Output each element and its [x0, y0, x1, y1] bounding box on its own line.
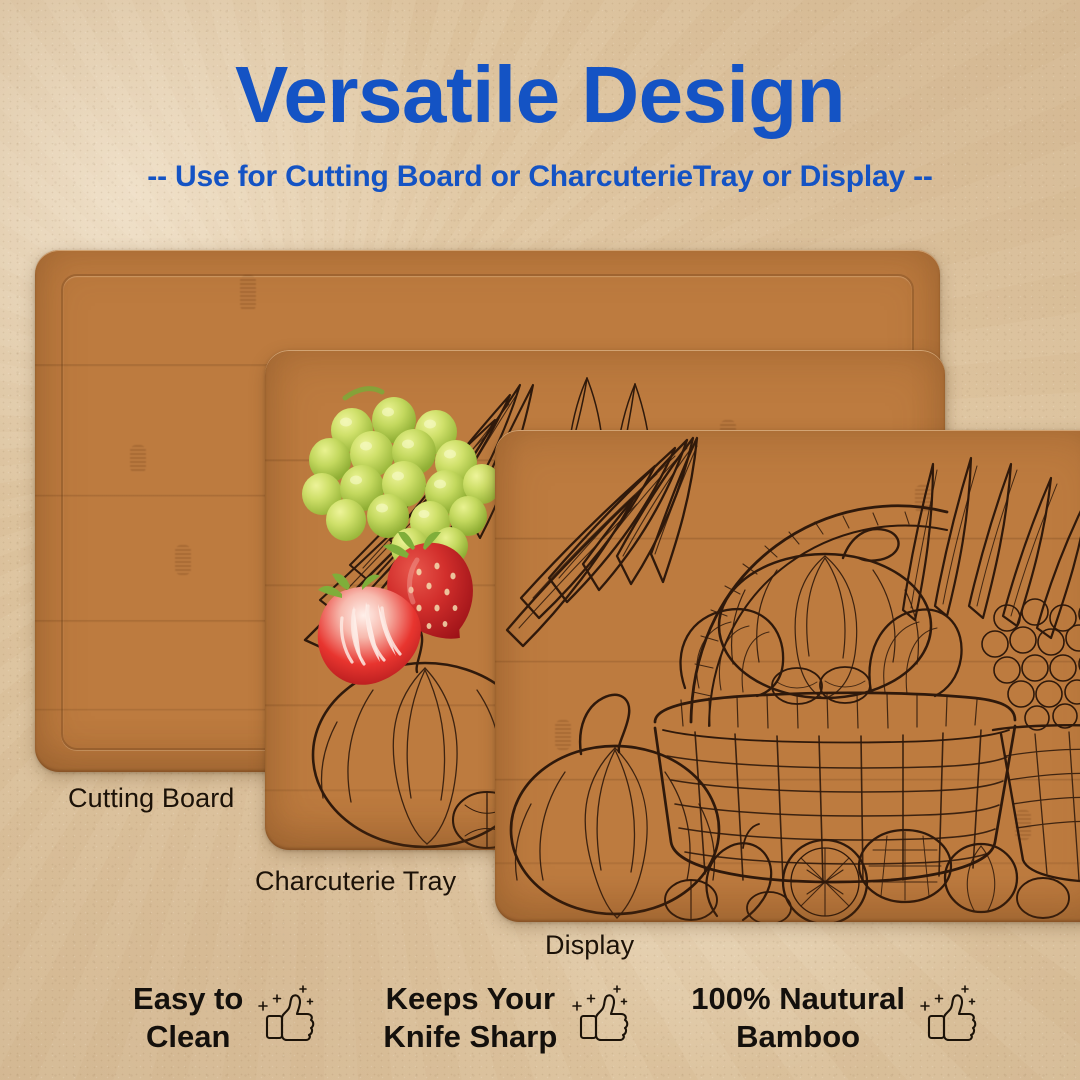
thumbs-up-icon: [571, 984, 633, 1051]
thumbs-up-icon: [919, 984, 981, 1051]
feature-label: Keeps Your Knife Sharp: [383, 980, 557, 1056]
caption-cutting-board: Cutting Board: [68, 783, 234, 814]
board-display[interactable]: [495, 430, 1080, 922]
feature-label: Easy to Clean: [133, 980, 243, 1056]
header: Versatile Design -- Use for Cutting Boar…: [0, 0, 1080, 194]
page-title: Versatile Design: [0, 0, 1080, 135]
bamboo-node-mark: [555, 720, 571, 750]
feature-easy-to-clean: Easy to Clean: [133, 980, 319, 1056]
strawberry-halved-photo: [310, 572, 440, 697]
feature-natural-bamboo: 100% Nautural Bamboo: [691, 980, 981, 1056]
bamboo-node-mark: [1015, 810, 1031, 840]
page-subtitle: -- Use for Cutting Board or CharcuterieT…: [0, 135, 1080, 194]
bamboo-node-mark: [915, 485, 931, 513]
feature-keeps-knife-sharp: Keeps Your Knife Sharp: [383, 980, 633, 1056]
caption-charcuterie-tray: Charcuterie Tray: [255, 866, 456, 897]
feature-bar: Easy to Clean Keeps Your Knife Sharp: [0, 955, 1080, 1080]
thumbs-up-icon: [257, 984, 319, 1051]
bamboo-plank-seams: [495, 430, 1080, 922]
feature-label: 100% Nautural Bamboo: [691, 980, 905, 1056]
